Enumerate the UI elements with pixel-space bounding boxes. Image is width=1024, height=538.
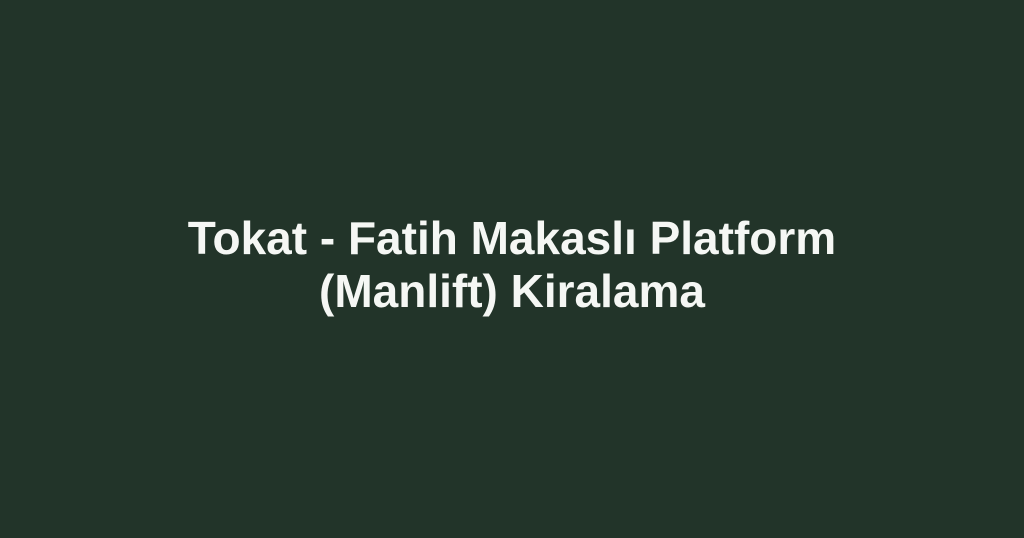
card-content-wrapper: Tokat - Fatih Makaslı Platform (Manlift)…: [172, 212, 852, 318]
page-title: Tokat - Fatih Makaslı Platform (Manlift)…: [184, 212, 840, 318]
share-preview-card: Tokat - Fatih Makaslı Platform (Manlift)…: [0, 0, 1024, 538]
